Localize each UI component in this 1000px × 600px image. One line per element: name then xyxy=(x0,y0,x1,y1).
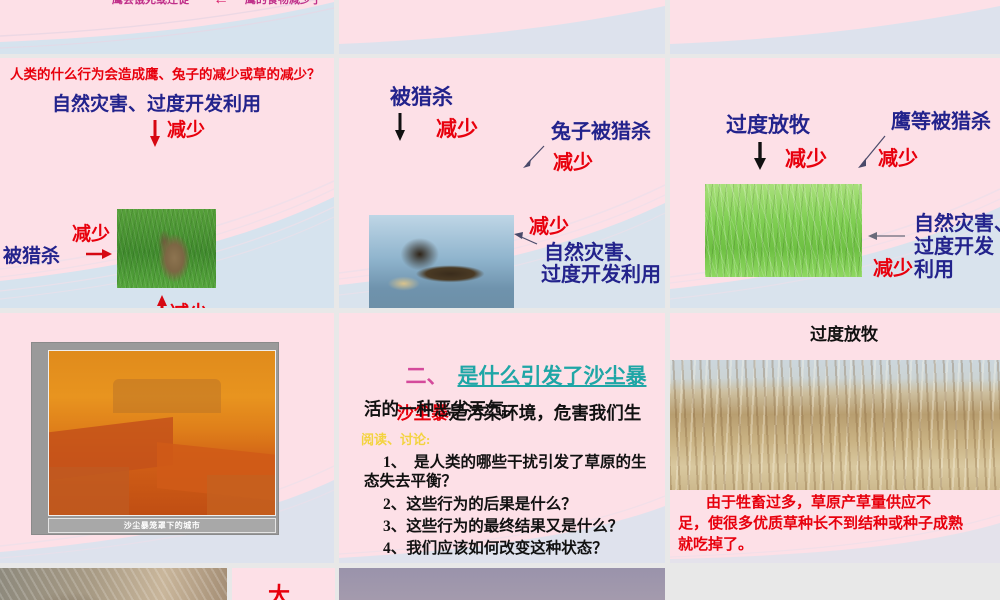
s1-question: 人类的什么行为会造成鹰、兔子的减少或草的减少？ xyxy=(10,67,321,82)
decorative-wave xyxy=(670,0,1000,54)
s5-question-3: 3、这些行为的最终结果又是什么？ xyxy=(383,518,623,535)
s6-steppe-photo xyxy=(670,360,1000,490)
slide-rodent-damage[interactable] xyxy=(0,568,227,600)
slide-grass-decline[interactable]: 过度放牧 减少 鹰等被猎杀 减少 自然灾害、 过度开发 利用 减少 xyxy=(670,58,1000,308)
left-arrow-icon: ← xyxy=(213,0,229,9)
slide-row0-right[interactable] xyxy=(670,0,1000,54)
storm-building-shape xyxy=(207,475,276,516)
s5-question-4: 4、我们应该如何改变这种状态？ xyxy=(383,540,608,557)
eagle-food-text: 鹰的食物减少了 xyxy=(245,0,322,6)
s2-right-effect-1: 减少 xyxy=(553,152,593,174)
s4-sandstorm-photo xyxy=(48,350,276,516)
s1-left-cause: 被猎杀 xyxy=(3,246,60,267)
s6-title: 过度放牧 xyxy=(810,325,878,344)
s1-top-effect: 减少 xyxy=(167,120,205,141)
s1-rabbit-photo xyxy=(117,209,216,288)
s7-rodent-photo xyxy=(0,568,227,600)
s9-camel-photo xyxy=(339,568,665,600)
decorative-wave xyxy=(339,0,665,54)
s5-question-1b: 态失去平衡？ xyxy=(364,473,457,490)
slide-desert-camel[interactable] xyxy=(339,568,665,600)
s1-bottom-effect: 减少 xyxy=(170,303,208,308)
slide-what-causes-sandstorm[interactable]: 二、是什么引发了沙尘暴 沙尘暴是污染环境，危害我们生 活的一种恶劣天气。 阅读、… xyxy=(339,313,665,563)
s3-top-effect: 减少 xyxy=(785,148,827,172)
s2-right-cause-2-line2: 过度开发利用 xyxy=(541,264,661,286)
slide-eagle-decline[interactable]: 被猎杀 减少 兔子被猎杀 减少 减少 自然灾害、 过度开发利用 xyxy=(339,58,665,308)
s2-eagle-photo xyxy=(369,215,514,308)
s3-right-cause-1: 鹰等被猎杀 xyxy=(891,111,991,133)
s8-visible-text: 大 xyxy=(268,584,290,600)
s2-right-effect-2: 减少 xyxy=(529,216,569,238)
s3-right-cause-2-line3: 利用 xyxy=(914,259,954,281)
slide-overgrazing[interactable]: 过度放牧 由于牲畜过多，草原产草量供应不 足，使很多优质草种长不到结种或种子成熟… xyxy=(670,313,1000,563)
s6-caption-line2: 足，使很多优质草种长不到结种或种子成熟 xyxy=(678,516,963,533)
s3-right-cause-2-line1: 自然灾害、 xyxy=(914,213,1000,235)
s3-grass-photo xyxy=(705,184,862,277)
slide-human-impact-rabbit[interactable]: 人类的什么行为会造成鹰、兔子的减少或草的减少？ 自然灾害、过度开发利用 减少 减… xyxy=(0,58,334,308)
s3-right-effect-1: 减少 xyxy=(878,148,918,170)
storm-building-shape xyxy=(49,467,129,516)
slide-eagle-starvation-chain[interactable]: 鹰会饿死或迁徙 ← 鹰的食物减少了 xyxy=(0,0,334,54)
slide-thumbnail-grid: 鹰会饿死或迁徙 ← 鹰的食物减少了 人类的什么行 xyxy=(0,0,1000,600)
s3-right-effect-2: 减少 xyxy=(873,258,913,280)
s2-top-cause: 被猎杀 xyxy=(390,86,453,110)
s3-right-cause-2-line2: 过度开发 xyxy=(914,236,994,258)
decorative-wave xyxy=(0,0,334,54)
s6-caption-line3: 就吃掉了。 xyxy=(678,537,753,554)
s5-question-1a: 1、 是人类的哪些干扰引发了草原的生 xyxy=(383,454,647,471)
storm-palace-shape xyxy=(113,379,221,413)
s4-photo-caption-bar: 沙尘暴笼罩下的城市 xyxy=(48,518,276,533)
eagle-starve-text: 鹰会饿死或迁徙 xyxy=(112,0,189,6)
slide-row0-middle[interactable] xyxy=(339,0,665,54)
s2-right-cause-1: 兔子被猎杀 xyxy=(551,121,651,143)
s5-body-line2: 活的一种恶劣天气。 xyxy=(364,400,522,420)
s1-top-cause: 自然灾害、过度开发利用 xyxy=(52,94,261,115)
s3-top-cause: 过度放牧 xyxy=(726,114,810,138)
s5-question-2: 2、这些行为的后果是什么？ xyxy=(383,496,577,513)
s1-left-effect: 减少 xyxy=(72,224,110,245)
slide-sandstorm-city[interactable]: 沙尘暴笼罩下的城市 沙尘暴笼罩下的城市 xyxy=(0,313,334,563)
s6-caption-line1: 由于牲畜过多，草原产草量供应不 xyxy=(706,495,931,512)
s2-top-effect: 减少 xyxy=(436,118,478,142)
s2-right-cause-2-line1: 自然灾害、 xyxy=(544,242,644,264)
slide-text-clipped[interactable]: 大 xyxy=(232,568,335,600)
s5-prompt-label: 阅读、讨论: xyxy=(361,433,430,448)
